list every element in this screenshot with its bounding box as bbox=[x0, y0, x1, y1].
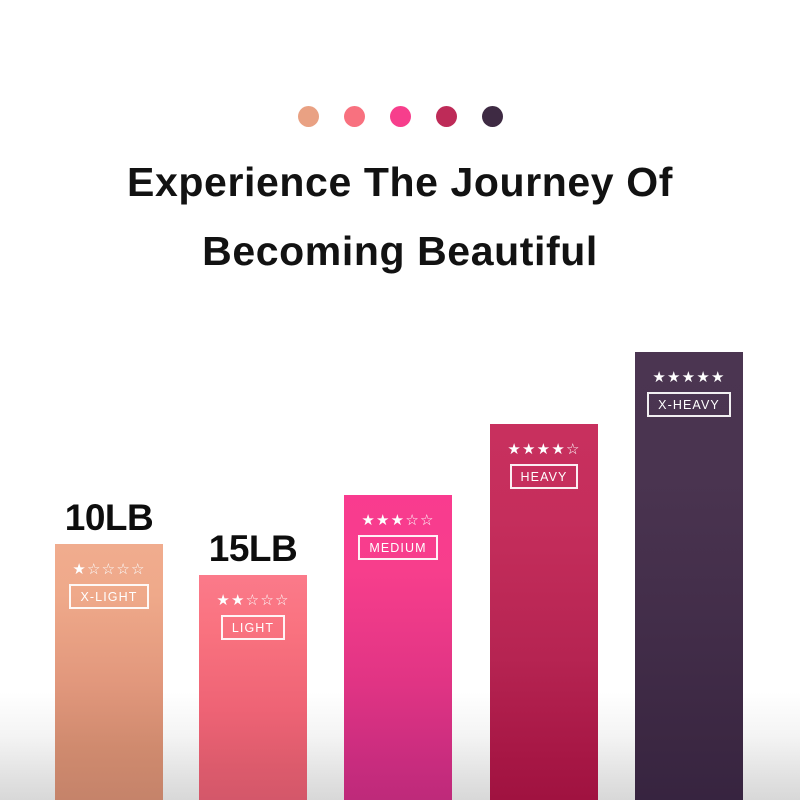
star-rating-10lb: ★☆☆☆☆ bbox=[72, 562, 145, 577]
bar-group-15lb: 15LB ★★☆☆☆ LIGHT bbox=[199, 575, 307, 800]
bar-content-15lb: ★★☆☆☆ LIGHT bbox=[199, 593, 307, 640]
bar-15lb[interactable]: ★★☆☆☆ LIGHT bbox=[199, 575, 307, 800]
bar-group-10lb: 10LB ★☆☆☆☆ X-LIGHT bbox=[55, 544, 163, 800]
bar-40lb[interactable]: ★★★★★ X-HEAVY bbox=[635, 352, 743, 800]
bar-content-10lb: ★☆☆☆☆ X-LIGHT bbox=[55, 562, 163, 609]
bar-content-30lb: ★★★★☆ HEAVY bbox=[490, 442, 598, 489]
bar-content-20lb: ★★★☆☆ MEDIUM bbox=[344, 513, 452, 560]
bar-content-40lb: ★★★★★ X-HEAVY bbox=[635, 370, 743, 417]
bar-20lb[interactable]: ★★★☆☆ MEDIUM bbox=[344, 495, 452, 800]
bar-label-10lb: 10LB bbox=[65, 498, 153, 538]
resistance-bar-chart: 10LB ★☆☆☆☆ X-LIGHT 15LB ★★☆☆☆ LIGHT 20LB bbox=[0, 0, 800, 800]
grade-badge-30lb: HEAVY bbox=[510, 464, 579, 489]
grade-badge-40lb: X-HEAVY bbox=[647, 392, 731, 417]
star-rating-40lb: ★★★★★ bbox=[652, 370, 725, 385]
grade-badge-15lb: LIGHT bbox=[221, 615, 285, 640]
star-rating-20lb: ★★★☆☆ bbox=[361, 513, 434, 528]
grade-badge-20lb: MEDIUM bbox=[358, 535, 437, 560]
star-rating-30lb: ★★★★☆ bbox=[507, 442, 580, 457]
star-rating-15lb: ★★☆☆☆ bbox=[216, 593, 289, 608]
bar-10lb[interactable]: ★☆☆☆☆ X-LIGHT bbox=[55, 544, 163, 800]
grade-badge-10lb: X-LIGHT bbox=[69, 584, 148, 609]
bar-30lb[interactable]: ★★★★☆ HEAVY bbox=[490, 424, 598, 800]
bar-label-15lb: 15LB bbox=[209, 529, 297, 569]
poster-canvas: Experience The Journey Of Becoming Beaut… bbox=[0, 0, 800, 800]
